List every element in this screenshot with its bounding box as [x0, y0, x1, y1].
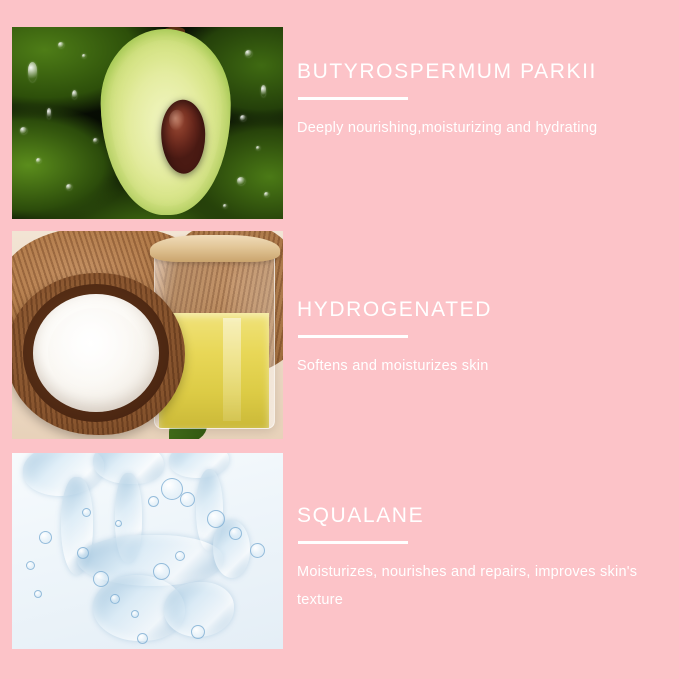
ingredient-description: Deeply nourishing,moisturizing and hydra…	[297, 114, 669, 142]
title-divider	[298, 541, 408, 544]
gel-bubbles-photo	[12, 453, 283, 649]
avocado-photo	[12, 27, 283, 219]
ingredient-description: Softens and moisturizes skin	[297, 352, 669, 380]
ingredient-title: HYDROGENATED	[297, 298, 669, 322]
ingredient-row-hydrogenated: HYDROGENATED Softens and moisturizes ski…	[0, 226, 679, 452]
title-divider	[298, 335, 408, 338]
infographic-page: BUTYROSPERMUM PARKII Deeply nourishing,m…	[0, 0, 679, 679]
title-divider	[298, 97, 408, 100]
ingredient-description: Moisturizes, nourishes and repairs, impr…	[297, 558, 669, 614]
coconut-oil-photo	[12, 231, 283, 439]
ingredient-copy-hydrogenated: HYDROGENATED Softens and moisturizes ski…	[297, 298, 669, 380]
ingredient-title: BUTYROSPERMUM PARKII	[297, 60, 669, 84]
ingredient-row-butyrospermum-parkii: BUTYROSPERMUM PARKII Deeply nourishing,m…	[0, 0, 679, 226]
ingredient-copy-butyrospermum-parkii: BUTYROSPERMUM PARKII Deeply nourishing,m…	[297, 60, 669, 142]
ingredient-title: SQUALANE	[297, 504, 669, 528]
ingredient-row-squalane: SQUALANE Moisturizes, nourishes and repa…	[0, 452, 679, 679]
ingredient-copy-squalane: SQUALANE Moisturizes, nourishes and repa…	[297, 504, 669, 614]
